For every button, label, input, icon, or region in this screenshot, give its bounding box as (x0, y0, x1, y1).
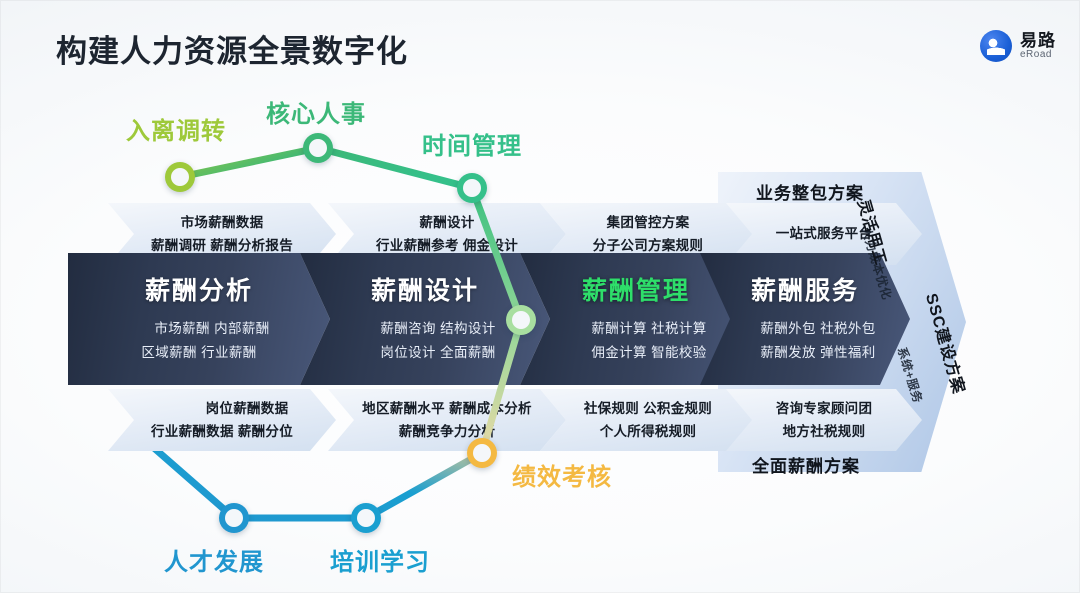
ring-node-center (463, 179, 481, 197)
top-node-3[interactable] (457, 173, 487, 203)
ring-node-center (357, 509, 375, 527)
bottom-node-3[interactable] (467, 438, 497, 468)
top-node-1[interactable] (165, 162, 195, 192)
ring-node-center (309, 139, 327, 157)
ring-node-center (171, 168, 189, 186)
top-node-label-3: 时间管理 (422, 126, 522, 161)
slide-canvas: 构建人力资源全景数字化 易路 eRoad 业务整包方案 全面薪酬方案 灵活用工 … (0, 0, 1080, 593)
bottom-node-1[interactable] (219, 503, 249, 533)
top-node-2[interactable] (303, 133, 333, 163)
ring-node-center (512, 311, 530, 329)
bottom-node-2[interactable] (351, 503, 381, 533)
top-node-label-2: 核心人事 (266, 94, 366, 129)
top-node-label-1: 入离调转 (126, 111, 226, 146)
top-journey-line (0, 0, 1080, 593)
ring-node-center (225, 509, 243, 527)
ring-node-center (473, 444, 491, 462)
bottom-node-label-3: 绩效考核 (512, 457, 612, 492)
mid-node[interactable] (506, 305, 536, 335)
bottom-node-label-2: 培训学习 (330, 542, 430, 577)
bottom-node-label-1: 人才发展 (164, 542, 264, 577)
